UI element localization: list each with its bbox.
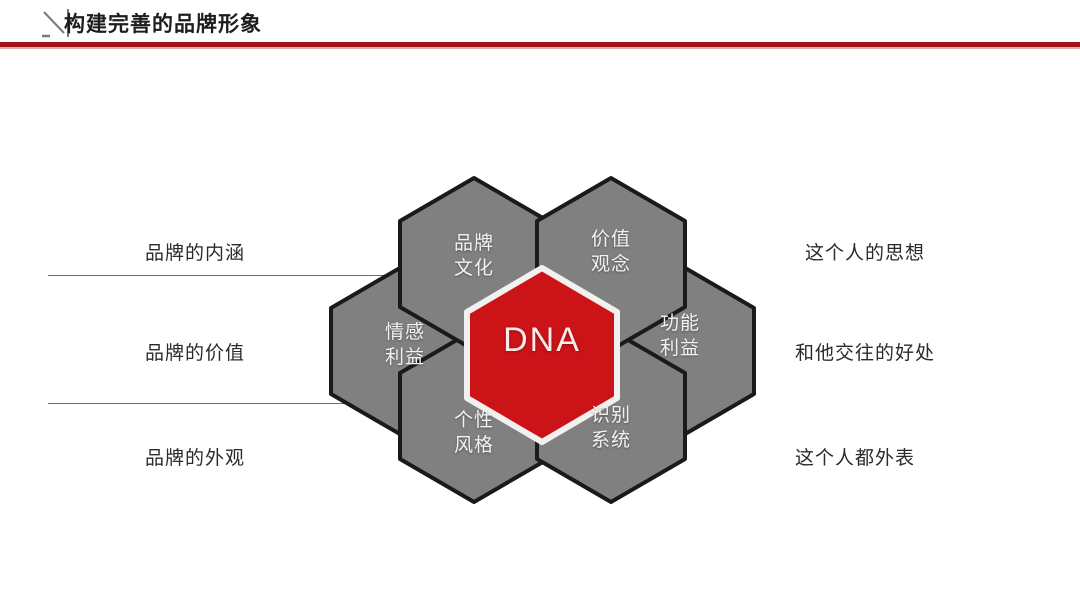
- slide-canvas: 构建完善的品牌形象 品牌的内涵 品牌的价值 品牌的外观 这个人的思想 和他交往的…: [0, 0, 1080, 608]
- honeycomb-diagram: 品牌 文化 价值 观念 情感 利益 功能 利益 个性 风格 识别 系统 DNA: [0, 0, 1080, 608]
